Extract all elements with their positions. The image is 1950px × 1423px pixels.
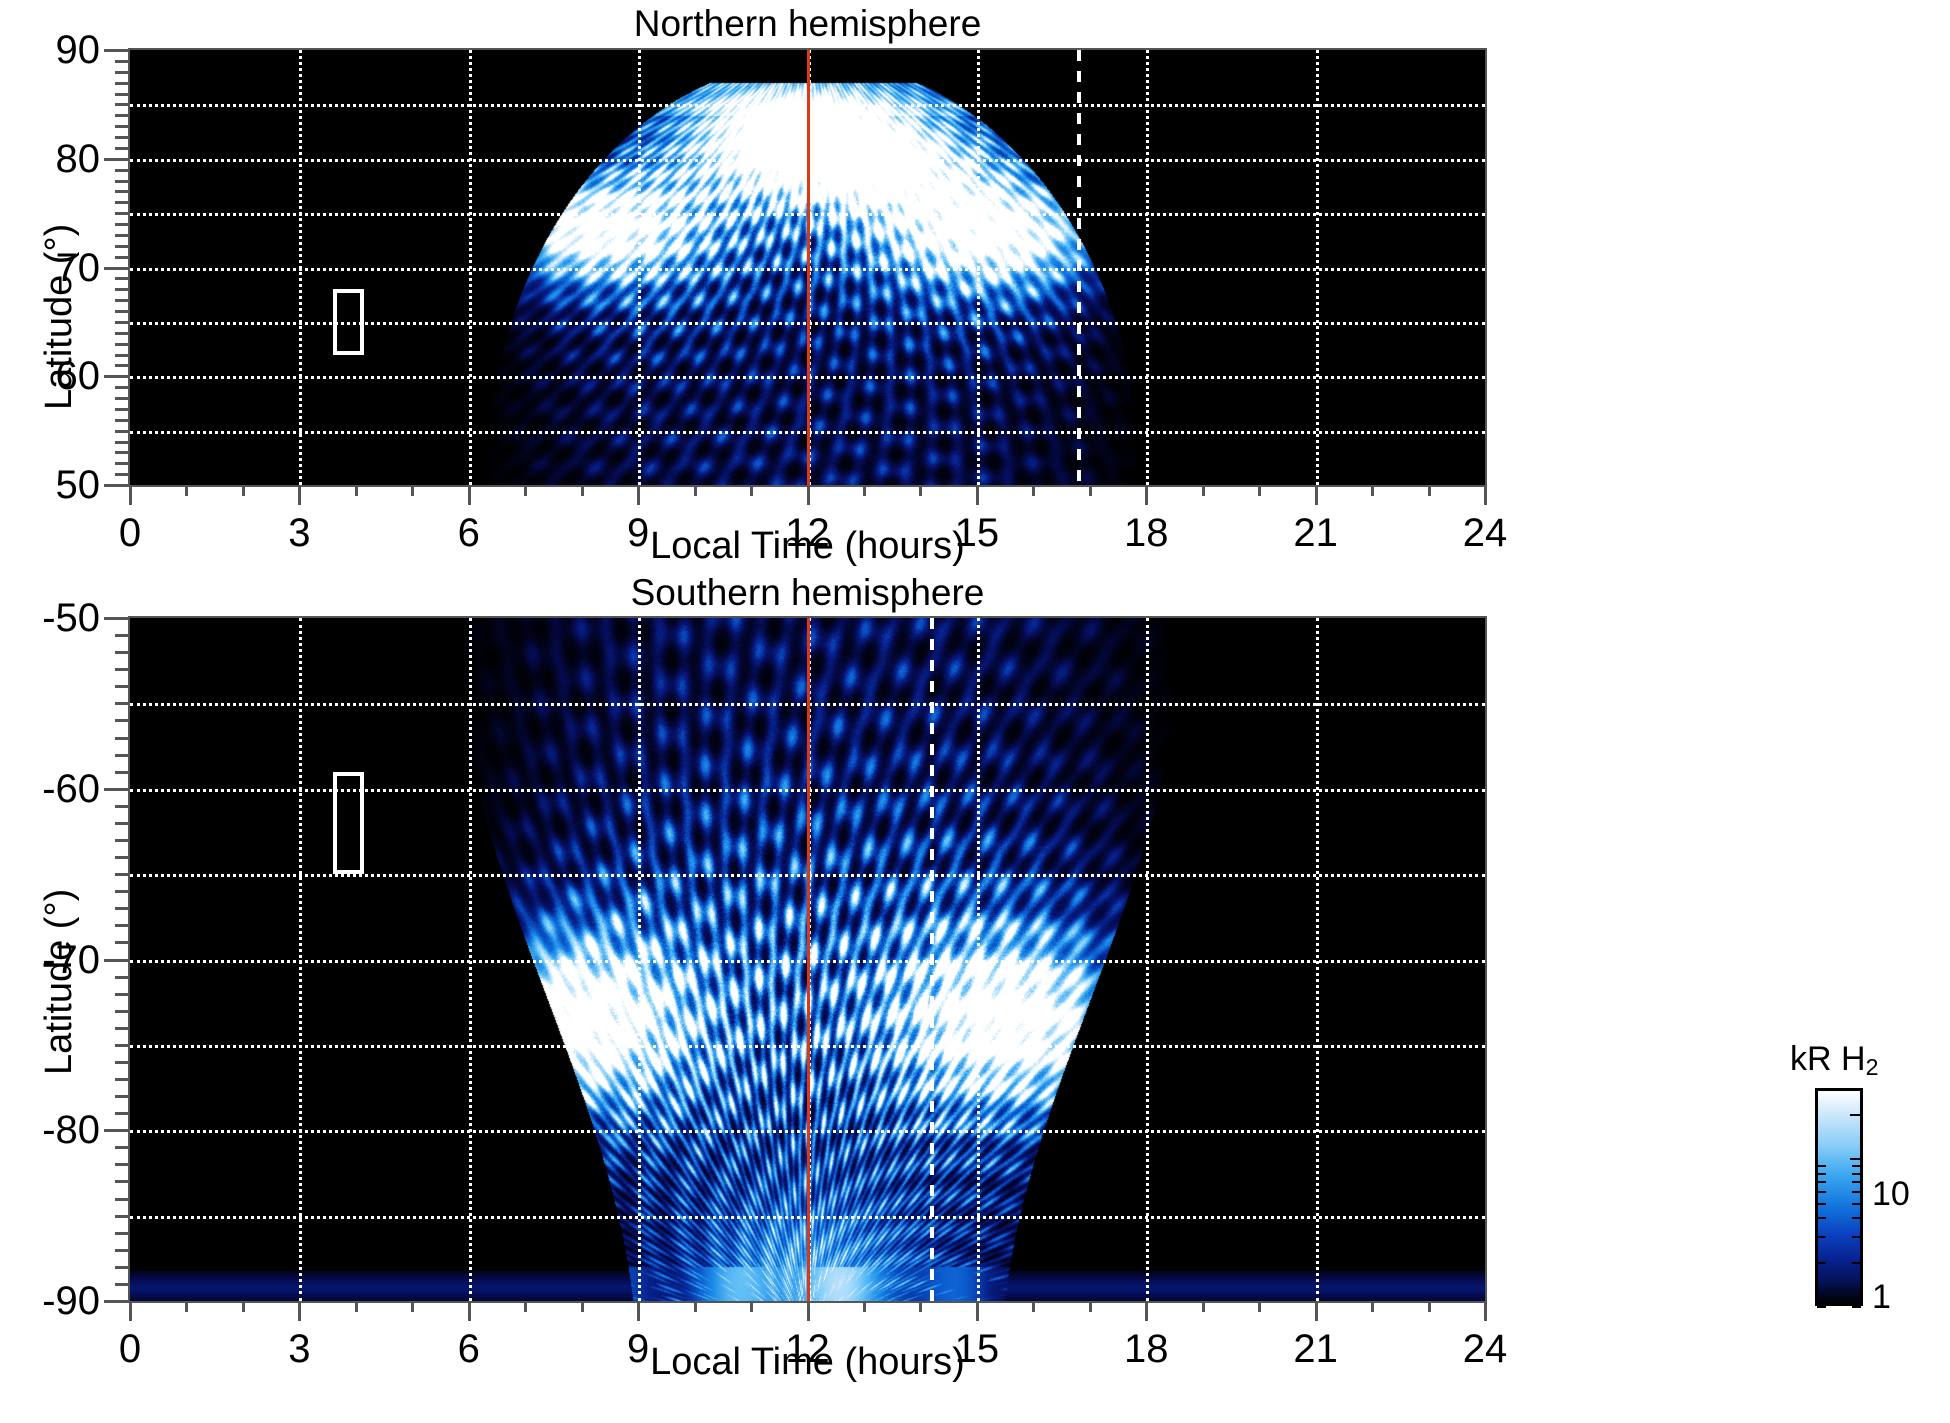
noon-meridian-line [807,618,810,1301]
y-axis-major-tick [104,158,130,161]
x-axis-minor-tick [411,485,414,496]
y-axis-tick-label: 80 [0,139,100,179]
x-axis-minor-tick [1202,1301,1205,1312]
colorbar-minor-tick [1817,1236,1826,1238]
x-axis-major-tick [807,1301,810,1321]
colorbar-major-tick [1850,1158,1861,1160]
y-axis-minor-tick [115,941,130,944]
y-axis-minor-tick [115,212,130,215]
colorbar-title-text: kR H [1790,1040,1866,1078]
x-axis-tick-label: 21 [1256,513,1376,553]
colorbar-tick-label-1: 1 [1872,1278,1891,1317]
x-axis-minor-tick [863,485,866,496]
y-axis-minor-tick [115,1249,130,1252]
x-axis-tick-label: 21 [1256,1329,1376,1369]
colorbar-minor-tick [1817,1306,1826,1308]
colorbar-minor-tick [1817,1217,1826,1219]
y-axis-minor-tick [115,976,130,979]
y-axis-minor-tick [115,332,130,335]
x-axis-minor-tick [1032,1301,1035,1312]
y-axis-minor-tick [115,256,130,259]
colorbar-title: kR H2 [1790,1040,1878,1081]
y-axis-minor-tick [115,634,130,637]
y-axis-major-tick [104,484,130,487]
y-axis-minor-tick [115,299,130,302]
y-axis-minor-tick [115,82,130,85]
y-axis-minor-tick [115,473,130,476]
colorbar-minor-tick [1852,1165,1861,1167]
y-axis-minor-tick [115,685,130,688]
y-axis-minor-tick [115,364,130,367]
colorbar-major-tick [1850,1114,1861,1116]
x-axis-minor-tick [242,485,245,496]
x-axis-minor-tick [1089,1301,1092,1312]
y-axis-minor-tick [115,1095,130,1098]
y-axis-minor-tick [115,462,130,465]
y-axis-minor-tick [115,397,130,400]
x-axis-major-tick [1315,1301,1318,1321]
y-axis-minor-tick [115,419,130,422]
y-axis-minor-tick [115,1078,130,1081]
figure-root: Northern hemisphere Southern hemisphere … [0,0,1950,1423]
x-axis-tick-label: 0 [70,513,190,553]
x-axis-minor-tick [694,485,697,496]
y-axis-tick-label: 70 [0,248,100,288]
y-axis-minor-tick [115,1163,130,1166]
x-axis-tick-label: 12 [748,1329,868,1369]
y-axis-minor-tick [115,1283,130,1286]
northern-heatmap-plot[interactable] [130,50,1485,485]
x-axis-minor-tick [1428,485,1431,496]
y-axis-tick-label: -80 [0,1110,100,1150]
x-axis-minor-tick [1032,485,1035,496]
x-axis-major-tick [807,485,810,505]
y-axis-minor-tick [115,1112,130,1115]
x-axis-minor-tick [919,1301,922,1312]
noon-meridian-line [807,50,810,485]
x-axis-tick-label: 9 [578,513,698,553]
y-axis-minor-tick [115,136,130,139]
y-axis-minor-tick [115,651,130,654]
y-axis-minor-tick [115,223,130,226]
y-axis-minor-tick [115,234,130,237]
y-axis-minor-tick [115,1044,130,1047]
y-axis-minor-tick [115,354,130,357]
x-axis-tick-label: 6 [409,1329,529,1369]
x-axis-major-tick [637,1301,640,1321]
y-axis-minor-tick [115,245,130,248]
colorbar-minor-tick [1817,1262,1826,1264]
colorbar-minor-tick [1852,1181,1861,1183]
y-axis-tick-label: -50 [0,598,100,638]
x-axis-tick-label: 15 [917,1329,1037,1369]
x-axis-minor-tick [581,1301,584,1312]
y-axis-major-tick [104,617,130,620]
x-axis-minor-tick [750,1301,753,1312]
x-axis-major-tick [1315,485,1318,505]
y-axis-minor-tick [115,71,130,74]
y-axis-minor-tick [115,441,130,444]
x-axis-tick-label: 9 [578,1329,698,1369]
x-axis-minor-tick [524,1301,527,1312]
y-axis-minor-tick [115,702,130,705]
y-axis-minor-tick [115,125,130,128]
colorbar-minor-tick [1852,1217,1861,1219]
y-axis-minor-tick [115,386,130,389]
x-axis-tick-label: 24 [1425,513,1545,553]
y-axis-minor-tick [115,771,130,774]
y-axis-minor-tick [115,93,130,96]
x-axis-minor-tick [694,1301,697,1312]
x-axis-major-tick [1484,485,1487,505]
x-axis-major-tick [298,1301,301,1321]
colorbar-minor-tick [1852,1173,1861,1175]
x-axis-tick-label: 18 [1086,513,1206,553]
x-axis-minor-tick [863,1301,866,1312]
x-axis-major-tick [1145,485,1148,505]
x-axis-tick-label: 24 [1425,1329,1545,1369]
colorbar-minor-tick [1817,1191,1826,1193]
x-axis-minor-tick [581,485,584,496]
colorbar-title-subscript: 2 [1866,1054,1879,1080]
y-axis-minor-tick [115,190,130,193]
x-axis-minor-tick [1428,1301,1431,1312]
x-axis-minor-tick [1371,1301,1374,1312]
x-axis-minor-tick [355,1301,358,1312]
y-axis-tick-label: -70 [0,940,100,980]
y-axis-minor-tick [115,719,130,722]
x-axis-major-tick [468,1301,471,1321]
y-axis-minor-tick [115,873,130,876]
y-axis-minor-tick [115,1198,130,1201]
y-axis-minor-tick [115,1215,130,1218]
y-axis-minor-tick [115,147,130,150]
dashed-marker-line [930,618,934,1301]
x-axis-minor-tick [524,485,527,496]
colorbar-major-tick [1850,1088,1861,1090]
x-axis-minor-tick [185,1301,188,1312]
southern-y-axis-title: Latitude (°) [38,889,81,1075]
y-axis-minor-tick [115,169,130,172]
y-axis-minor-tick [115,60,130,63]
y-axis-major-tick [104,49,130,52]
y-axis-minor-tick [115,839,130,842]
colorbar-minor-tick [1852,1203,1861,1205]
y-axis-major-tick [104,788,130,791]
x-axis-minor-tick [185,485,188,496]
southern-heatmap-plot[interactable] [130,618,1485,1301]
y-axis-tick-label: -90 [0,1281,100,1321]
y-axis-minor-tick [115,890,130,893]
colorbar-minor-tick [1852,1306,1861,1308]
x-axis-major-tick [129,1301,132,1321]
x-axis-tick-label: 18 [1086,1329,1206,1369]
colorbar-group: kR H2 10 1 [1790,1040,1950,1320]
y-axis-tick-label: -60 [0,769,100,809]
colorbar-minor-tick [1852,1236,1861,1238]
y-axis-minor-tick [115,430,130,433]
x-axis-minor-tick [1258,1301,1261,1312]
y-axis-minor-tick [115,408,130,411]
x-axis-minor-tick [411,1301,414,1312]
x-axis-major-tick [468,485,471,505]
colorbar-minor-tick [1817,1165,1826,1167]
southern-panel-title: Southern hemisphere [130,572,1485,614]
y-axis-minor-tick [115,993,130,996]
colorbar-minor-tick [1852,1262,1861,1264]
x-axis-minor-tick [355,485,358,496]
x-axis-major-tick [298,485,301,505]
x-axis-major-tick [129,485,132,505]
y-axis-minor-tick [115,1180,130,1183]
y-axis-minor-tick [115,321,130,324]
colorbar-minor-tick [1817,1173,1826,1175]
dashed-marker-line [1077,50,1081,485]
y-axis-major-tick [104,267,130,270]
y-axis-minor-tick [115,103,130,106]
y-axis-minor-tick [115,201,130,204]
y-axis-minor-tick [115,924,130,927]
northern-panel-title: Northern hemisphere [130,3,1485,45]
y-axis-tick-label: 50 [0,465,100,505]
colorbar-minor-tick [1852,1191,1861,1193]
x-axis-major-tick [976,1301,979,1321]
x-axis-minor-tick [750,485,753,496]
y-axis-minor-tick [115,180,130,183]
y-axis-minor-tick [115,856,130,859]
y-axis-minor-tick [115,310,130,313]
x-axis-tick-label: 6 [409,513,529,553]
y-axis-major-tick [104,1129,130,1132]
y-axis-minor-tick [115,1010,130,1013]
colorbar-minor-tick [1817,1203,1826,1205]
y-axis-minor-tick [115,805,130,808]
colorbar-gradient[interactable] [1815,1088,1863,1306]
x-axis-tick-label: 3 [239,1329,359,1369]
y-axis-minor-tick [115,1061,130,1064]
x-axis-major-tick [637,485,640,505]
y-axis-minor-tick [115,668,130,671]
y-axis-minor-tick [115,1266,130,1269]
y-axis-minor-tick [115,907,130,910]
reference-box [333,772,364,874]
x-axis-major-tick [1484,1301,1487,1321]
x-axis-minor-tick [242,1301,245,1312]
x-axis-major-tick [1145,1301,1148,1321]
y-axis-minor-tick [115,451,130,454]
y-axis-minor-tick [115,1027,130,1030]
x-axis-minor-tick [1371,485,1374,496]
x-axis-major-tick [976,485,979,505]
y-axis-minor-tick [115,277,130,280]
y-axis-minor-tick [115,288,130,291]
x-axis-minor-tick [1089,485,1092,496]
y-axis-minor-tick [115,343,130,346]
y-axis-major-tick [104,959,130,962]
y-axis-minor-tick [115,754,130,757]
y-axis-minor-tick [115,1232,130,1235]
x-axis-tick-label: 0 [70,1329,190,1369]
y-axis-minor-tick [115,737,130,740]
y-axis-tick-label: 60 [0,356,100,396]
x-axis-tick-label: 3 [239,513,359,553]
y-axis-major-tick [104,375,130,378]
y-axis-tick-label: 90 [0,30,100,70]
reference-box [333,289,364,354]
y-axis-minor-tick [115,1146,130,1149]
y-axis-major-tick [104,1300,130,1303]
x-axis-minor-tick [1258,485,1261,496]
x-axis-minor-tick [919,485,922,496]
colorbar-tick-label-10: 10 [1872,1175,1910,1214]
y-axis-minor-tick [115,114,130,117]
x-axis-tick-label: 15 [917,513,1037,553]
y-axis-minor-tick [115,822,130,825]
x-axis-minor-tick [1202,485,1205,496]
colorbar-minor-tick [1817,1181,1826,1183]
x-axis-tick-label: 12 [748,513,868,553]
